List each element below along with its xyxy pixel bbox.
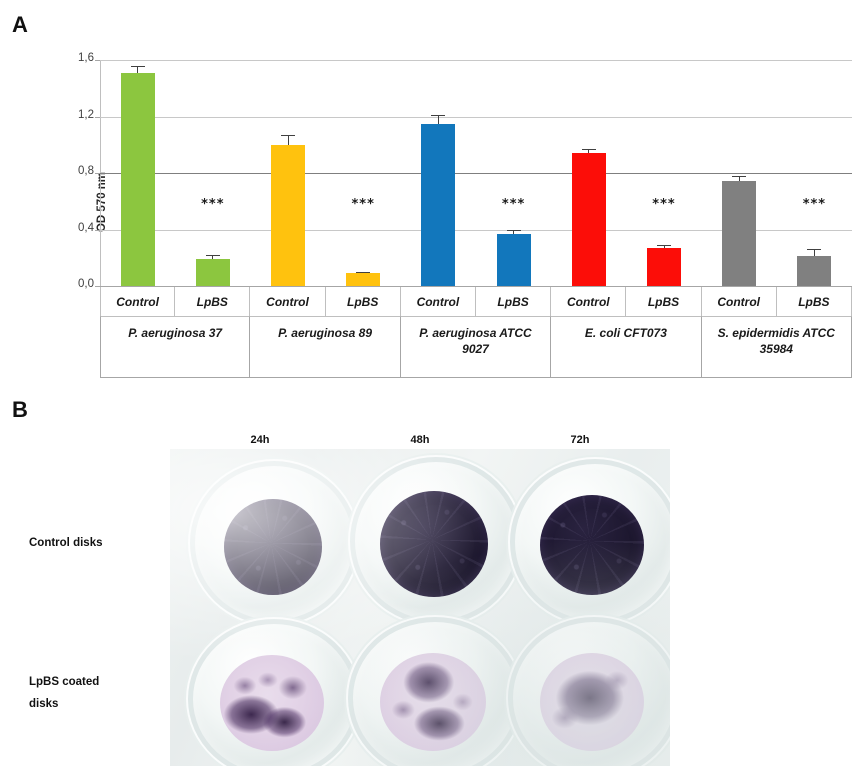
gridline-0-8 <box>100 173 852 174</box>
error-bar-cap <box>507 230 521 231</box>
row-label-control-disks: Control disks <box>29 533 102 555</box>
disk-lpbs-24h <box>220 655 324 751</box>
six-well-plate-photo <box>170 449 670 766</box>
panel-a-label: A <box>12 12 28 38</box>
panel-a-bar-chart: A OD 570 nm 0,00,40,81,21,6 ************… <box>0 0 865 385</box>
subcategory-label-control: Control <box>100 287 175 316</box>
bar-s-epidermidis-atcc-35984-lpbs <box>797 256 831 286</box>
time-label-48h: 48h <box>390 434 450 446</box>
group-label-s-epidermidis-atcc-35984: S. epidermidis ATCC35984 <box>702 316 852 377</box>
bar-p-aeruginosa-89-control <box>271 145 305 286</box>
y-tick-label-0-4: 0,4 <box>48 223 94 235</box>
subcategory-label-lpbs: LpBS <box>626 287 701 316</box>
group-label-line2: 9027 <box>401 341 550 357</box>
y-tick-label-1-2: 1,2 <box>48 110 94 122</box>
error-bar-cap <box>131 66 145 67</box>
bar-p-aeruginosa-atcc-9027-lpbs <box>497 234 531 286</box>
error-bar-cap <box>206 255 220 256</box>
error-bar-cap <box>657 245 671 246</box>
y-tick-mark <box>95 173 100 174</box>
group-label-e-coli-cft073: E. coli CFT073 <box>551 316 701 377</box>
significance-marker: *** <box>624 198 704 211</box>
well-lpbs-48h <box>346 615 524 766</box>
significance-marker: *** <box>323 198 403 211</box>
subcategory-label-control: Control <box>250 287 325 316</box>
y-tick-mark <box>95 117 100 118</box>
bar-e-coli-cft073-lpbs <box>647 248 681 286</box>
disk-lpbs-48h <box>380 653 486 751</box>
subcategory-label-control: Control <box>551 287 626 316</box>
gridline-1-6 <box>100 60 852 61</box>
y-tick-mark <box>95 230 100 231</box>
error-bar-cap <box>732 176 746 177</box>
error-bar-cap <box>431 115 445 116</box>
plot-area: 0,00,40,81,21,6 *************** <box>100 60 852 286</box>
disk-control-72h <box>540 495 644 595</box>
well-control-72h <box>508 457 670 627</box>
subcategory-label-lpbs: LpBS <box>777 287 852 316</box>
panel-b-label: B <box>12 397 28 423</box>
group-label-line1: E. coli CFT073 <box>551 325 700 341</box>
group-label-line1: S. epidermidis ATCC <box>702 325 851 341</box>
row-label-lpbs-line1: LpBS coated <box>29 672 99 694</box>
group-label-p-aeruginosa-37: P. aeruginosa 37 <box>100 316 250 377</box>
disk-lpbs-72h <box>540 653 644 751</box>
row-label-lpbs-coated-disks: LpBS coated disks <box>29 672 99 716</box>
subcategory-label-lpbs: LpBS <box>326 287 401 316</box>
significance-marker: *** <box>173 198 253 211</box>
bar-p-aeruginosa-atcc-9027-control <box>421 124 455 286</box>
group-label-line1: P. aeruginosa 89 <box>250 325 399 341</box>
well-control-24h <box>188 459 360 627</box>
y-tick-label-0-0: 0,0 <box>48 279 94 291</box>
error-bar-cap <box>807 249 821 250</box>
error-bar-stem <box>288 135 289 145</box>
disk-control-24h <box>224 499 322 595</box>
bar-s-epidermidis-atcc-35984-control <box>722 181 756 286</box>
disk-control-48h <box>380 491 488 597</box>
group-label-line2: 35984 <box>702 341 851 357</box>
subcategory-label-lpbs: LpBS <box>476 287 551 316</box>
time-label-24h: 24h <box>230 434 290 446</box>
y-tick-label-1-6: 1,6 <box>48 53 94 65</box>
bar-p-aeruginosa-89-lpbs <box>346 273 380 286</box>
group-label-line1: P. aeruginosa ATCC <box>401 325 550 341</box>
row-label-lpbs-line2: disks <box>29 694 99 716</box>
category-axis: ControlLpBSControlLpBSControlLpBSControl… <box>100 286 852 378</box>
group-label-p-aeruginosa-89: P. aeruginosa 89 <box>250 316 400 377</box>
error-bar-stem <box>438 115 439 123</box>
subcategory-label-control: Control <box>702 287 777 316</box>
error-bar-cap <box>281 135 295 136</box>
time-label-72h: 72h <box>550 434 610 446</box>
subcategory-label-lpbs: LpBS <box>175 287 250 316</box>
well-control-48h <box>348 455 524 627</box>
y-tick-mark <box>95 60 100 61</box>
error-bar-cap <box>582 149 596 150</box>
bar-e-coli-cft073-control <box>572 153 606 286</box>
subcategory-label-control: Control <box>401 287 476 316</box>
error-bar-stem <box>814 249 815 256</box>
category-axis-bottom-rule <box>100 377 852 378</box>
gridline-1-2 <box>100 117 852 118</box>
group-label-p-aeruginosa-atcc-9027: P. aeruginosa ATCC9027 <box>401 316 551 377</box>
bar-p-aeruginosa-37-lpbs <box>196 259 230 286</box>
error-bar-cap <box>356 272 370 273</box>
well-lpbs-72h <box>506 615 670 766</box>
significance-marker: *** <box>774 198 854 211</box>
significance-marker: *** <box>474 198 554 211</box>
group-label-line1: P. aeruginosa 37 <box>101 325 249 341</box>
y-tick-label-0-8: 0,8 <box>48 166 94 178</box>
well-lpbs-24h <box>186 617 362 766</box>
error-bar-stem <box>137 66 138 73</box>
bar-p-aeruginosa-37-control <box>121 73 155 286</box>
